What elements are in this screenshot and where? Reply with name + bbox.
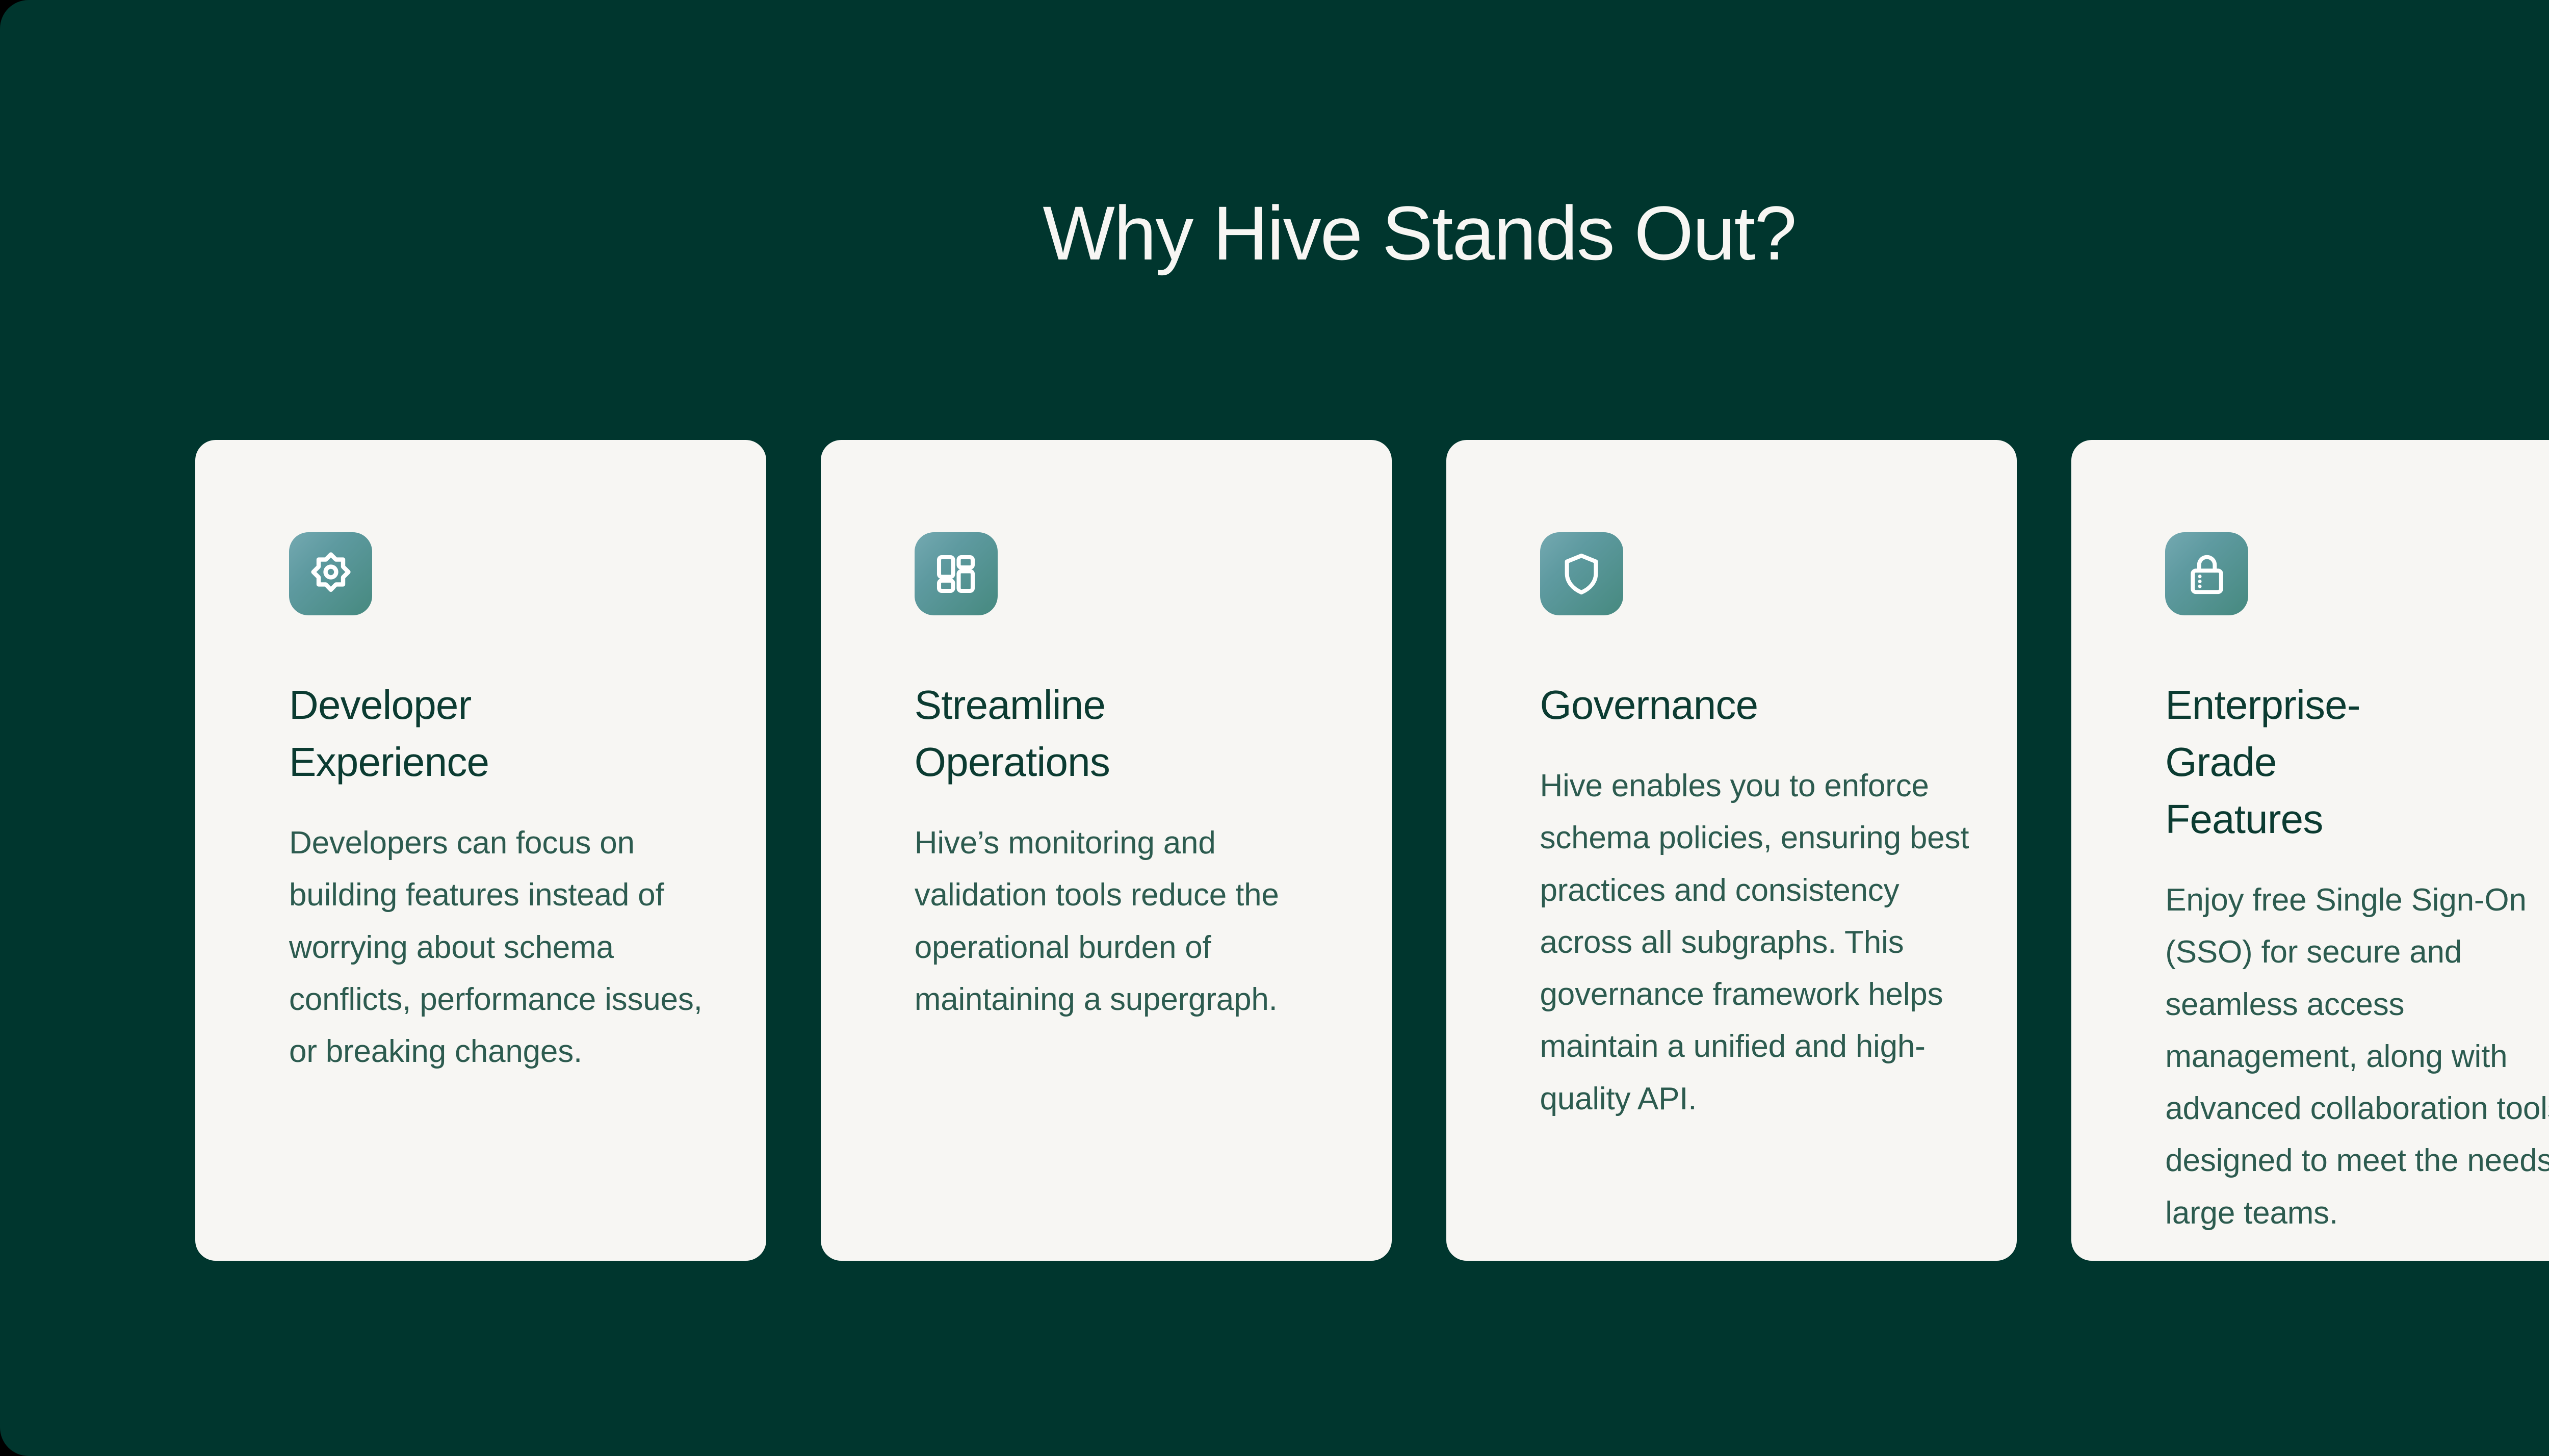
feature-card-title: Governance	[1540, 677, 1805, 734]
feature-card: Governance Hive enables you to enforce s…	[1446, 440, 2017, 1261]
feature-card-body: Hive’s monitoring and validation tools r…	[915, 817, 1346, 1026]
feature-card: Developer Experience Developers can focu…	[195, 440, 766, 1261]
gear-icon	[289, 532, 372, 615]
feature-card-title: Enterprise-Grade Features	[2165, 677, 2430, 848]
feature-card-body: Hive enables you to enforce schema polic…	[1540, 760, 1971, 1125]
page-title: Why Hive Stands Out?	[0, 195, 2549, 271]
feature-card-body: Enjoy free Single Sign-On (SSO) for secu…	[2165, 874, 2549, 1239]
feature-card-title: Streamline Operations	[915, 677, 1180, 791]
shield-icon	[1540, 532, 1623, 615]
feature-card: Enterprise-Grade Features Enjoy free Sin…	[2071, 440, 2549, 1261]
feature-card-title: Developer Experience	[289, 677, 554, 791]
feature-card-body: Developers can focus on building feature…	[289, 817, 720, 1078]
feature-card: Streamline Operations Hive’s monitoring …	[821, 440, 1392, 1261]
feature-section: Why Hive Stands Out? Developer Experienc…	[0, 0, 2549, 1456]
lock-icon	[2165, 532, 2248, 615]
feature-card-grid: Developer Experience Developers can focu…	[195, 440, 2549, 1261]
dashboard-grid-icon	[915, 532, 998, 615]
